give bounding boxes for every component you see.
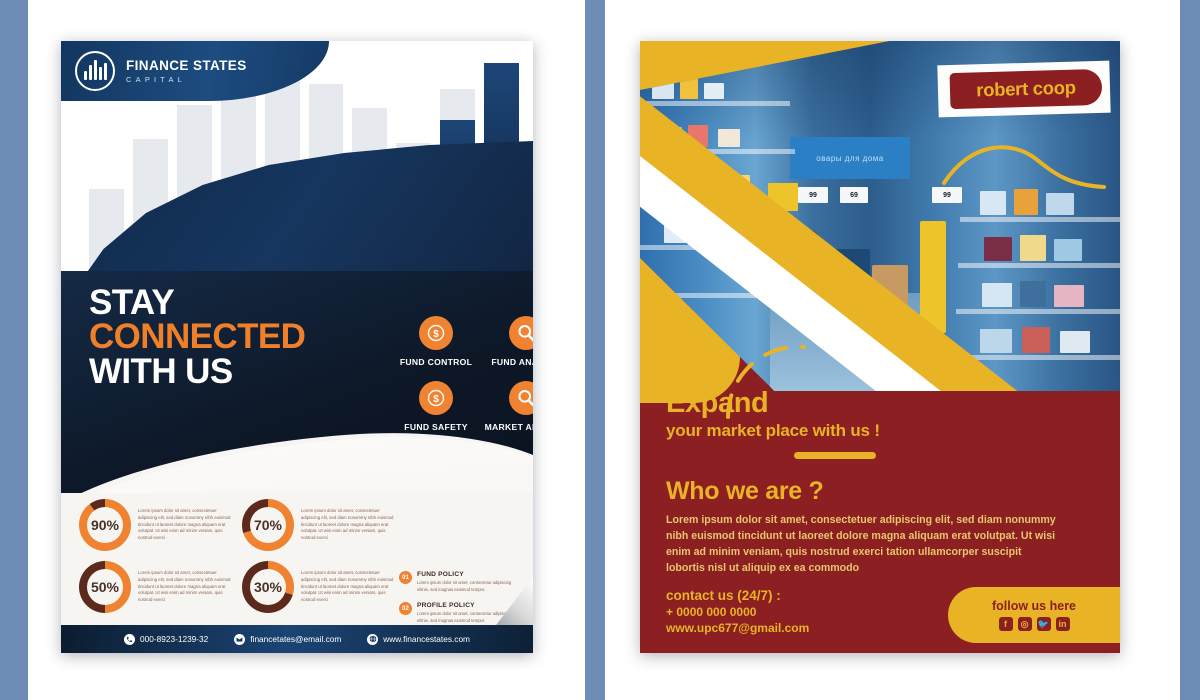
footer-phone[interactable]: 000-8923-1239-32 [124, 634, 208, 645]
svg-text:$: $ [433, 329, 439, 340]
donut-value: 50% [91, 579, 119, 595]
service-list: $FUND CONTROLFUND ANALYST$FUND SAFETYMAR… [391, 316, 533, 432]
poster-robert-coop: овары для дома 99 [640, 41, 1120, 653]
headline-line-2: CONNECTED [89, 320, 305, 354]
donut-stat-group: 90%Lorem ipsum dolor sit amet, consectet… [79, 499, 399, 623]
contact-site[interactable]: www.upc677@gmail.com [666, 621, 809, 635]
divider-rule [794, 452, 876, 459]
policy-description: Lorem ipsum dolor sit amet, consectetur … [417, 580, 519, 593]
headline-line-3: WITH US [89, 355, 305, 389]
poster-finance-states: FINANCE STATES CAPITAL STAY CONNECTED WI… [61, 41, 533, 653]
donut-stat: 50%Lorem ipsum dolor sit amet, consectet… [79, 561, 236, 613]
contact-footer: 000-8923-1239-32 financetates@email.com … [61, 625, 533, 653]
facebook-icon[interactable]: f [999, 617, 1013, 631]
phone-icon [124, 634, 135, 645]
donut-value: 30% [254, 579, 282, 595]
donut-description: Lorem ipsum dolor sit amet, consectetuer… [138, 570, 236, 605]
right-poster-copy: Expand your market place with us ! Who w… [666, 389, 1058, 576]
contact-title: contact us (24/7) : [666, 588, 809, 603]
footer-website[interactable]: www.financestates.com [367, 634, 470, 645]
bar-chart-circle-icon [75, 51, 115, 91]
donut-chart: 90% [79, 499, 131, 551]
instagram-icon[interactable]: ◎ [1018, 617, 1032, 631]
follow-us-label: follow us here [992, 599, 1076, 613]
brand-tag-body: robert coop [950, 69, 1103, 109]
photo-caption: овары для дома [816, 154, 883, 163]
who-we-are-title: Who we are ? [666, 477, 1058, 506]
left-rail [0, 0, 28, 700]
donut-description: Lorem ipsum dolor sit amet, consectetuer… [301, 508, 399, 543]
brand-subtitle: CAPITAL [126, 75, 247, 84]
globe-icon [367, 634, 378, 645]
service-label: FUND ANALYST [481, 357, 533, 367]
donut-description: Lorem ipsum dolor sit amet, consectetuer… [138, 508, 236, 543]
magnifier-icon [509, 316, 533, 350]
donut-description: Lorem ipsum dolor sit amet, consectetuer… [301, 570, 399, 605]
footer-email[interactable]: financetates@email.com [234, 634, 341, 645]
donut-chart: 70% [242, 499, 294, 551]
dollar-coin-icon: $ [419, 316, 453, 350]
right-rail [1180, 0, 1200, 700]
who-we-are-body: Lorem ipsum dolor sit amet, consectetuer… [666, 512, 1058, 576]
brand-name: FINANCE STATES [126, 58, 247, 73]
donut-stat-row: 90%Lorem ipsum dolor sit amet, consectet… [79, 499, 399, 551]
brand-tag: robert coop [938, 63, 1110, 115]
donut-value: 90% [91, 517, 119, 533]
svg-text:$: $ [433, 394, 439, 405]
donut-chart: 50% [79, 561, 131, 613]
footer-phone-text: 000-8923-1239-32 [140, 634, 208, 644]
photo-aisle-sign: овары для дома [790, 137, 910, 179]
twitter-icon[interactable]: 🐦 [1037, 617, 1051, 631]
envelope-icon [234, 634, 245, 645]
footer-email-text: financetates@email.com [250, 634, 341, 644]
dollar-coin-icon: $ [419, 381, 453, 415]
center-rail [585, 0, 605, 700]
magnifier-icon [509, 381, 533, 415]
donut-stat: 70%Lorem ipsum dolor sit amet, consectet… [242, 499, 399, 551]
footer-website-text: www.financestates.com [383, 634, 470, 644]
brand-tag-label: robert coop [976, 77, 1076, 102]
headline-line-1: STAY [89, 286, 305, 320]
expand-title: Expand [666, 389, 1058, 418]
contact-phone[interactable]: + 0000 000 0000 [666, 605, 809, 619]
service-item[interactable]: MARKET ANALYST [481, 381, 533, 432]
donut-stat-row: 50%Lorem ipsum dolor sit amet, consectet… [79, 561, 399, 613]
service-item[interactable]: FUND ANALYST [481, 316, 533, 367]
linkedin-icon[interactable]: in [1056, 617, 1070, 631]
page-title: STAY CONNECTED WITH US [89, 286, 305, 389]
donut-value: 70% [254, 517, 282, 533]
contact-block: contact us (24/7) : + 0000 000 0000 www.… [666, 588, 809, 635]
service-item[interactable]: $FUND CONTROL [391, 316, 481, 367]
follow-us-button[interactable]: follow us here f◎🐦in [948, 587, 1120, 643]
policy-number: 02 [399, 602, 412, 615]
policy-title: FUND POLICY [417, 571, 519, 578]
social-icon-group: f◎🐦in [999, 617, 1070, 631]
policy-number: 01 [399, 571, 412, 584]
donut-chart: 30% [242, 561, 294, 613]
policy-title: PROFILE POLICY [417, 602, 519, 609]
policy-item[interactable]: 01FUND POLICYLorem ipsum dolor sit amet,… [399, 571, 519, 593]
expand-subtitle: your market place with us ! [666, 421, 1058, 441]
decorative-wave [940, 133, 1110, 193]
service-label: FUND SAFETY [391, 422, 481, 432]
service-item[interactable]: $FUND SAFETY [391, 381, 481, 432]
service-label: MARKET ANALYST [481, 422, 533, 432]
donut-stat: 30%Lorem ipsum dolor sit amet, consectet… [242, 561, 399, 613]
service-label: FUND CONTROL [391, 357, 481, 367]
donut-stat: 90%Lorem ipsum dolor sit amet, consectet… [79, 499, 236, 551]
